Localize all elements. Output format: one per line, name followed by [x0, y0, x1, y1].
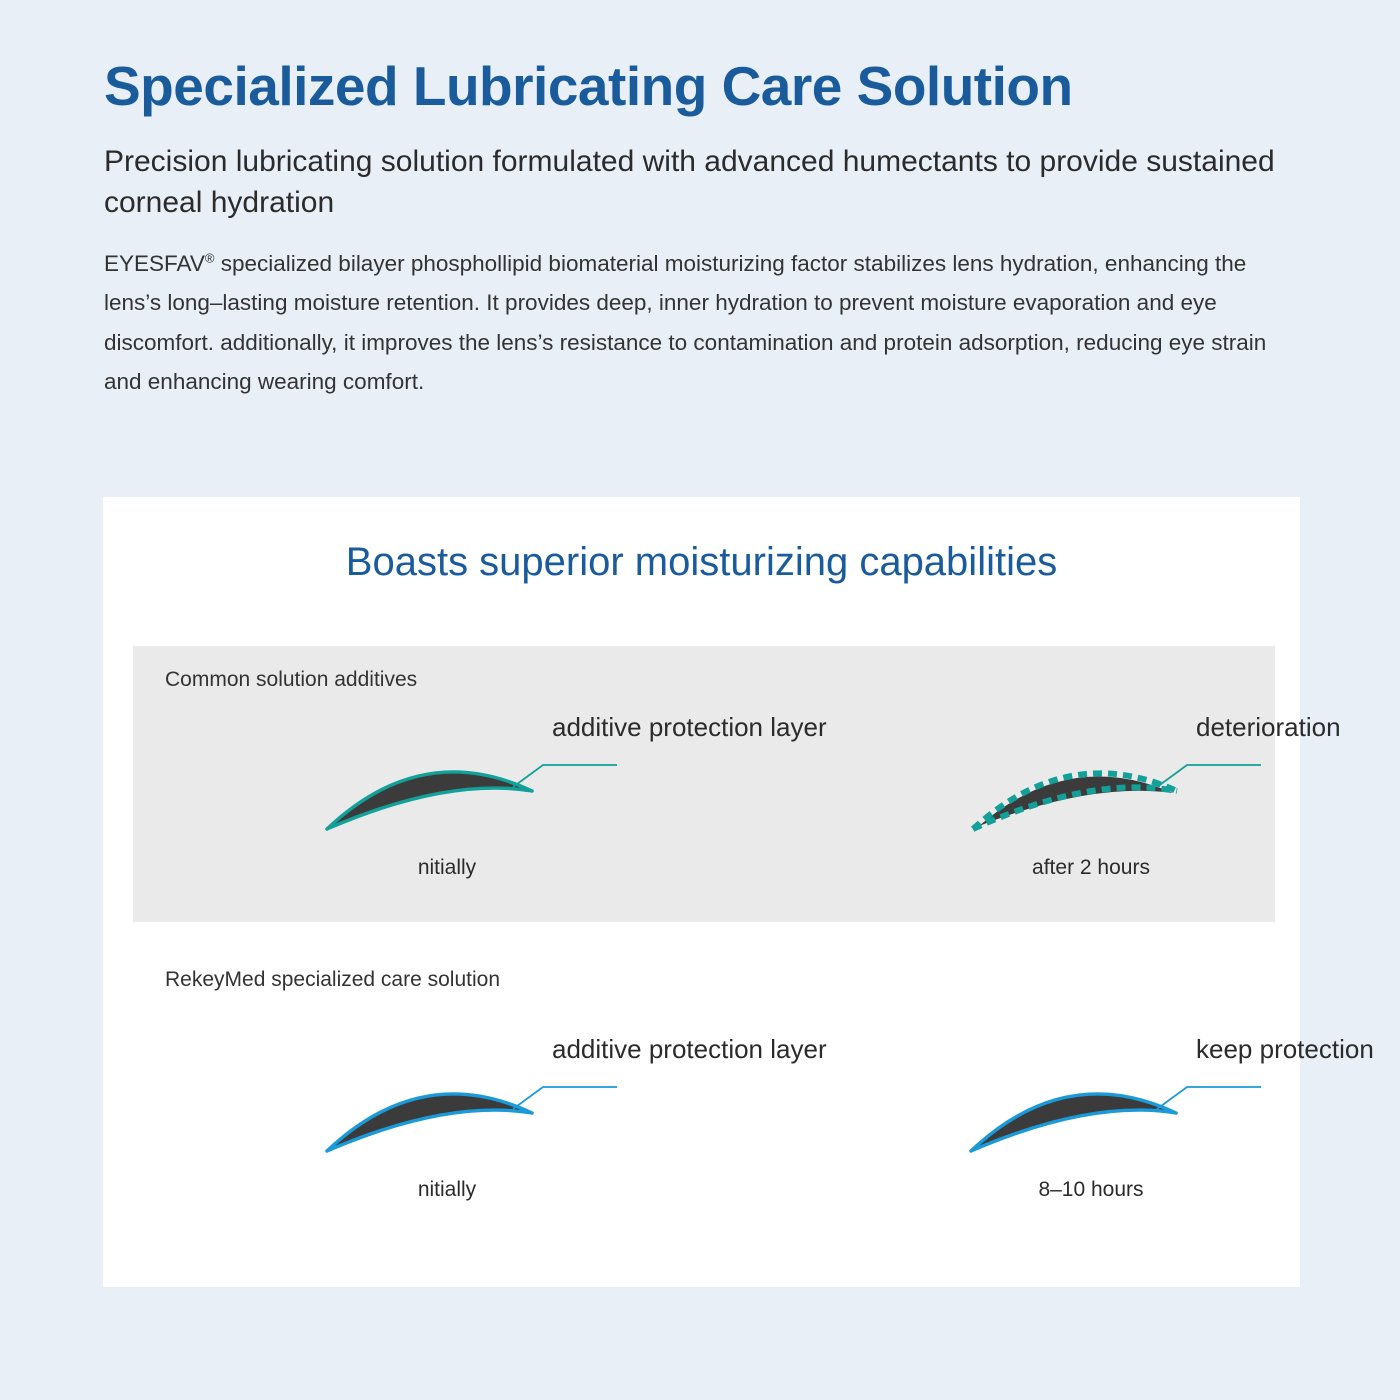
card-heading: Boasts superior moisturizing capabilitie… [103, 540, 1300, 585]
callout-label-additive-protection-layer: additive protection layer [552, 712, 827, 743]
lens-diagram-specialized-initial [317, 1056, 617, 1176]
lens-diagram-common-deteriorated [961, 734, 1261, 854]
lens-diagram-specialized-kept [961, 1056, 1261, 1176]
body-paragraph: EYESFAV® specialized bilayer phosphollip… [104, 244, 1304, 401]
lens-figure-common-deteriorated: deterioration after 2 hours [961, 734, 1261, 854]
callout-leader-line [513, 765, 617, 787]
lens-figure-common-initial: additive protection layer nitially [317, 734, 617, 854]
lens-diagram-common-initial [317, 734, 617, 854]
brand-name: EYESFAV [104, 251, 205, 276]
specialized-solution-panel-label: RekeyMed specialized care solution [165, 968, 500, 992]
figure-caption-8-10-hours: 8–10 hours [881, 1178, 1301, 1202]
callout-label-additive-protection-layer: additive protection layer [552, 1034, 827, 1065]
common-solution-panel: Common solution additives additive prote… [133, 646, 1275, 922]
lens-body-shape [979, 777, 1173, 826]
page-subtitle: Precision lubricating solution formulate… [104, 141, 1304, 224]
figure-caption-after-2-hours: after 2 hours [881, 856, 1301, 880]
figure-caption-initially: nitially [237, 1178, 657, 1202]
callout-leader-line [1157, 765, 1261, 787]
callout-leader-line [513, 1087, 617, 1109]
comparison-card: Boasts superior moisturizing capabilitie… [103, 497, 1300, 1287]
specialized-solution-panel: RekeyMed specialized care solution addit… [133, 946, 1275, 1266]
callout-label-keep-protection: keep protection [1196, 1034, 1374, 1065]
callout-leader-line [1157, 1087, 1261, 1109]
common-solution-panel-label: Common solution additives [165, 668, 417, 692]
poster-page: Specialized Lubricating Care Solution Pr… [0, 0, 1400, 1400]
body-paragraph-text: specialized bilayer phosphollipid biomat… [104, 251, 1266, 393]
callout-label-deterioration: deterioration [1196, 712, 1341, 743]
header: Specialized Lubricating Care Solution Pr… [104, 56, 1304, 401]
lens-figure-specialized-kept: keep protection 8–10 hours [961, 1056, 1261, 1176]
figure-caption-initially: nitially [237, 856, 657, 880]
page-title: Specialized Lubricating Care Solution [104, 56, 1304, 117]
lens-figure-specialized-initial: additive protection layer nitially [317, 1056, 617, 1176]
